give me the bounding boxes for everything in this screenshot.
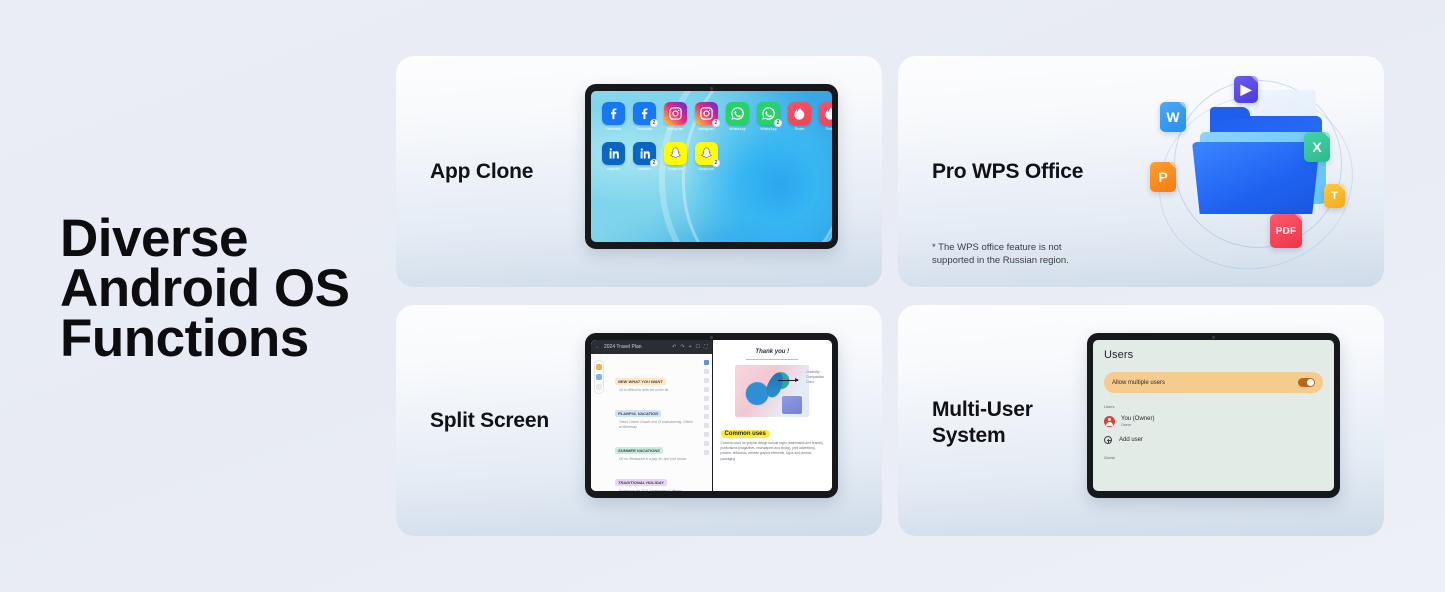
app-item[interactable]: 2 Snapchat — [693, 142, 720, 171]
user-name: You (Owner) — [1121, 415, 1154, 423]
feature-card-pro-wps-office[interactable]: Pro WPS Office * The WPS office feature … — [898, 56, 1384, 287]
feature-card-multi-user-system[interactable]: Multi-User System Users Allow multiple u… — [898, 305, 1384, 536]
grid-icon[interactable] — [704, 441, 709, 446]
tablet-screen-home: Facebook 2 Facebook Instagram — [591, 91, 832, 242]
linkedin-icon[interactable]: 2 — [633, 142, 656, 165]
pdf-file-icon: PDF — [1270, 214, 1302, 248]
app-label: WhatsApp — [724, 127, 751, 131]
word-file-icon: W — [1160, 102, 1186, 132]
whatsapp-icon[interactable] — [726, 102, 749, 125]
clock-icon[interactable] — [704, 396, 709, 401]
app-label: Snapchat — [662, 167, 689, 171]
artwork-callout-label: Creativity Composition Color — [806, 370, 824, 385]
clone-badge-icon: 2 — [712, 159, 720, 167]
layers-icon[interactable] — [704, 423, 709, 428]
instagram-icon[interactable] — [664, 102, 687, 125]
instagram-icon[interactable]: 2 — [695, 102, 718, 125]
bookmark-icon[interactable] — [704, 432, 709, 437]
hero-line-3: Functions — [60, 314, 390, 364]
wps-folder-illustration: W P ▶ X T PDF — [1152, 74, 1362, 274]
notes-side-rail[interactable] — [702, 358, 711, 487]
common-uses-body: Common uses for graphic design include l… — [721, 441, 825, 462]
note-body: Experience the 2024 Vacationale of Offer… — [615, 489, 696, 491]
app-item[interactable]: Instagram — [662, 102, 689, 131]
app-item[interactable]: 2 LinkedIn — [631, 142, 658, 171]
app-item[interactable]: Tinder — [786, 102, 813, 131]
folder-front-icon — [1192, 142, 1320, 214]
clone-badge-icon: 2 — [712, 119, 720, 127]
callout-arrow-icon — [778, 380, 798, 381]
allow-multiple-users-row[interactable]: Allow multiple users — [1104, 372, 1323, 393]
snapchat-icon[interactable]: 2 — [695, 142, 718, 165]
excel-file-icon: X — [1304, 132, 1330, 162]
app-item[interactable]: Facebook — [600, 102, 627, 131]
clone-badge-icon: 2 — [774, 119, 782, 127]
powerpoint-file-icon: P — [1150, 162, 1176, 192]
user-text-wrap: You (Owner) Owner — [1121, 415, 1154, 427]
app-label: Instagram — [662, 127, 689, 131]
settings-icon[interactable] — [704, 450, 709, 455]
home-icon[interactable] — [704, 378, 709, 383]
app-label: LinkedIn — [600, 167, 627, 171]
back-arrow-icon[interactable]: ← — [595, 344, 600, 350]
allow-multiple-users-toggle[interactable] — [1298, 378, 1315, 387]
feature-card-app-clone[interactable]: App Clone Facebook 2 — [396, 56, 882, 287]
app-label: Tinder — [817, 127, 832, 131]
app-item[interactable]: 2 Facebook — [631, 102, 658, 131]
clone-badge-icon: 2 — [650, 159, 658, 167]
fullscreen-icon[interactable]: ⛶ — [704, 344, 708, 350]
guest-section-label: Guest — [1104, 455, 1323, 460]
highlighter-tool-icon[interactable] — [596, 364, 602, 370]
tablet-device-split-screen: ← 2024 Travel Plan ↶ ↷ + ☐ ⛶ — [585, 333, 838, 498]
users-screen-title: Users — [1104, 349, 1323, 361]
note-block: PLANFUL VACATION Travel, Dream Chaotic a… — [615, 402, 696, 430]
app-label: Snapchat — [693, 167, 720, 171]
note-block: NEW WHAT YOU WANT Oh to difficult to wri… — [615, 370, 696, 393]
user-list-item-owner[interactable]: You (Owner) Owner — [1104, 415, 1323, 427]
note-heading: SUMMER VACATIONS — [615, 447, 663, 454]
split-pane-left: ← 2024 Travel Plan ↶ ↷ + ☐ ⛶ — [591, 340, 712, 491]
facebook-icon[interactable] — [602, 102, 625, 125]
tablet-device-app-clone: Facebook 2 Facebook Instagram — [585, 84, 838, 249]
search-icon[interactable] — [704, 387, 709, 392]
notes-document-title: 2024 Travel Plan — [604, 344, 642, 350]
notes-toolbar: ← 2024 Travel Plan ↶ ↷ + ☐ ⛶ — [591, 340, 712, 354]
clone-badge-icon: 2 — [650, 119, 658, 127]
add-user-icon — [1104, 436, 1112, 444]
text-file-icon: T — [1324, 184, 1345, 208]
thank-you-title: Thank you ! — [721, 349, 825, 355]
note-body: Oh to difficult to write out on the be — [615, 388, 696, 393]
app-label: Facebook — [600, 127, 627, 131]
app-item[interactable]: Snapchat — [662, 142, 689, 171]
linkedin-icon[interactable] — [602, 142, 625, 165]
eraser-tool-icon[interactable] — [596, 384, 602, 390]
card-title-multi-user-system: Multi-User System — [932, 397, 1033, 449]
chat-icon[interactable] — [704, 405, 709, 410]
app-label: WhatsApp — [755, 127, 782, 131]
app-icon-grid: Facebook 2 Facebook Instagram — [600, 102, 832, 171]
app-item[interactable]: 2 Tinder — [817, 102, 832, 131]
hero-line-2: Android OS — [60, 264, 390, 314]
notes-canvas: NEW WHAT YOU WANT Oh to difficult to wri… — [591, 354, 712, 491]
card-title-split-screen: Split Screen — [430, 408, 549, 434]
app-label: Facebook — [631, 127, 658, 131]
app-item[interactable]: LinkedIn — [600, 142, 627, 171]
share-icon[interactable]: ☐ — [696, 344, 700, 350]
note-heading: TRADITIONAL HOLIDAY — [615, 479, 667, 486]
note-block: SUMMER VACATIONS Oh no, Bestaurant in a … — [615, 439, 696, 462]
page-title: Diverse Android OS Functions — [60, 214, 390, 364]
video-file-icon: ▶ — [1234, 76, 1258, 103]
notes-content: NEW WHAT YOU WANT Oh to difficult to wri… — [615, 370, 696, 491]
tinder-icon[interactable] — [788, 102, 811, 125]
add-user-button[interactable]: Add user — [1104, 436, 1323, 444]
tablet-device-multi-user: Users Allow multiple users Users You (Ow… — [1087, 333, 1340, 498]
app-label: Instagram — [693, 127, 720, 131]
whatsapp-icon[interactable]: 2 — [757, 102, 780, 125]
note-heading: PLANFUL VACATION — [615, 410, 661, 417]
wps-region-disclaimer: * The WPS office feature is not supporte… — [932, 242, 1069, 267]
allow-multiple-users-label: Allow multiple users — [1112, 380, 1165, 386]
facebook-icon[interactable]: 2 — [633, 102, 656, 125]
split-pane-right: Thank you ! Creativity Composition Color… — [712, 340, 833, 491]
app-item[interactable]: 2 WhatsApp — [755, 102, 782, 131]
avatar — [1104, 416, 1115, 427]
tablet-screen-users-settings: Users Allow multiple users Users You (Ow… — [1093, 340, 1334, 491]
add-user-label: Add user — [1119, 437, 1143, 443]
profile-icon[interactable] — [704, 360, 709, 365]
user-role: Owner — [1121, 423, 1154, 427]
app-label: LinkedIn — [631, 167, 658, 171]
feature-card-split-screen[interactable]: Split Screen ← 2024 Travel Plan ↶ ↷ + ☐ … — [396, 305, 882, 536]
app-item[interactable]: 2 Instagram — [693, 102, 720, 131]
card-title-app-clone: App Clone — [430, 159, 533, 185]
undo-icon[interactable]: ↶ — [672, 344, 676, 350]
tinder-icon[interactable]: 2 — [819, 102, 832, 125]
snapchat-icon[interactable] — [664, 142, 687, 165]
note-body: Travel, Dream Chaotic and Of brainstormi… — [615, 420, 696, 430]
pen-tool-icon[interactable] — [596, 374, 602, 380]
users-section-label: Users — [1104, 404, 1323, 409]
note-body: Oh no, Bestaurant in a pay, be, and cost… — [615, 457, 696, 462]
collage-artwork — [735, 365, 809, 417]
common-uses-heading: Common uses — [721, 430, 770, 438]
add-icon[interactable]: + — [689, 344, 692, 350]
palette-icon[interactable] — [704, 414, 709, 419]
app-label: Tinder — [786, 127, 813, 131]
note-heading: NEW WHAT YOU WANT — [615, 378, 666, 385]
title-rule — [746, 359, 798, 360]
list-icon[interactable] — [704, 369, 709, 374]
redo-icon[interactable]: ↷ — [680, 344, 684, 350]
tablet-screen-split: ← 2024 Travel Plan ↶ ↷ + ☐ ⛶ — [591, 340, 832, 491]
note-block: TRADITIONAL HOLIDAY Experience the 2024 … — [615, 471, 696, 491]
notes-tool-palette[interactable] — [594, 360, 604, 394]
app-item[interactable]: WhatsApp — [724, 102, 751, 131]
hero-line-1: Diverse — [60, 214, 390, 264]
card-title-pro-wps-office: Pro WPS Office — [932, 159, 1083, 185]
feature-card-grid: App Clone Facebook 2 — [396, 56, 1384, 536]
